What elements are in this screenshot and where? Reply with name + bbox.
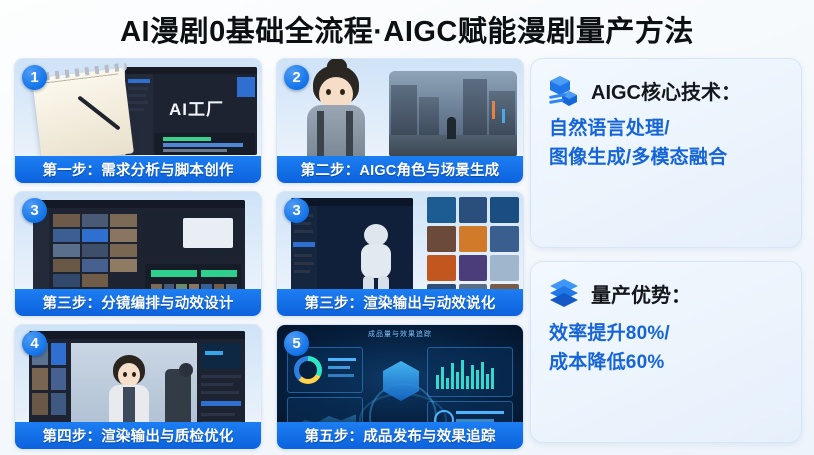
panel-line: 自然语言处理/ [549, 115, 785, 144]
step-badge: 3 [22, 198, 47, 223]
panel-production-advantage: 量产优势： 效率提升80%/ 成本降低60% [530, 261, 802, 443]
step-card-6[interactable]: 成品量与效果追踪 [276, 324, 524, 450]
step-caption: 第五步：成品发布与效果追踪 [277, 422, 523, 449]
cube-blocks-icon [547, 73, 581, 107]
line-chart-panel [287, 397, 363, 422]
side-panels: AIGC核心技术： 自然语言处理/ 图像生成/多模态融合 量产优势： 效 [530, 58, 802, 443]
step-badge: 1 [22, 65, 47, 90]
step-caption: 第一步：需求分析与脚本创作 [15, 156, 261, 183]
step-card-5[interactable]: 4 第四步：渲染输出与质检优化 [14, 324, 262, 450]
step-card-3[interactable]: 3 第三步：分镜编排与动效设计 [14, 191, 262, 317]
dashboard-title-text: 成品量与效果追踪 [277, 329, 523, 339]
step-badge: 4 [22, 331, 47, 356]
step-thumbnail-render-gallery: 3 [277, 192, 523, 289]
panel-line: 效率提升80%/ [549, 320, 785, 349]
layers-stack-icon [547, 276, 581, 310]
infographic-page: AI漫剧0基础全流程·AIGC赋能漫剧量产方法 AI工厂 [0, 0, 814, 455]
step-card-2[interactable]: 2 第二步：AIGC角色与场景生成 [276, 58, 524, 184]
rainy-street-scene-icon [389, 71, 517, 156]
step-caption: 第二步：AIGC角色与场景生成 [277, 156, 523, 183]
step-thumbnail-script-writing: AI工厂 1 [15, 59, 261, 156]
panel-line: 成本降低60% [549, 349, 785, 378]
step-card-4[interactable]: 3 第三步：渲染输出与动效说化 [276, 191, 524, 317]
panel-header: AIGC核心技术： [547, 73, 785, 107]
panel-header: 量产优势： [547, 276, 785, 310]
character-avatar-icon [299, 65, 373, 156]
notebook-icon [32, 68, 134, 156]
panel-body: 自然语言处理/ 图像生成/多模态融合 [547, 115, 785, 173]
step-caption: 第四步：渲染输出与质检优化 [15, 422, 261, 449]
editor-headline-text: AI工厂 [169, 95, 224, 120]
step-thumbnail-character-scene: 2 [277, 59, 523, 156]
preview-app-icon [29, 331, 245, 422]
render-app-icon [291, 198, 413, 289]
image-gallery-grid [427, 197, 519, 289]
bar-chart-panel [427, 347, 513, 397]
step-badge: 2 [284, 65, 309, 90]
step-thumbnail-preview-quality: 4 [15, 325, 261, 422]
page-title: AI漫剧0基础全流程·AIGC赋能漫剧量产方法 [0, 6, 814, 52]
steps-grid: AI工厂 1 第一步：需求分析与脚本创作 [14, 58, 524, 450]
panel-title: 量产优势： [591, 279, 691, 308]
panel-body: 效率提升80%/ 成本降低60% [547, 320, 785, 378]
step-thumbnail-analytics-dashboard: 成品量与效果追踪 [277, 325, 523, 422]
step-caption: 第三步：分镜编排与动效设计 [15, 289, 261, 316]
storyboard-app-icon [33, 200, 245, 289]
panel-title: AIGC核心技术： [591, 76, 741, 105]
step-badge: 3 [284, 198, 309, 223]
step-card-1[interactable]: AI工厂 1 第一步：需求分析与脚本创作 [14, 58, 262, 184]
panel-line: 图像生成/多模态融合 [549, 144, 785, 173]
step-thumbnail-storyboard-editor: 3 [15, 192, 261, 289]
editor-window-icon: AI工厂 [125, 67, 257, 155]
panel-core-technology: AIGC核心技术： 自然语言处理/ 图像生成/多模态融合 [530, 58, 802, 248]
step-caption: 第三步：渲染输出与动效说化 [277, 289, 523, 316]
step-badge: 5 [284, 331, 309, 356]
astronaut-model-icon [353, 224, 399, 289]
